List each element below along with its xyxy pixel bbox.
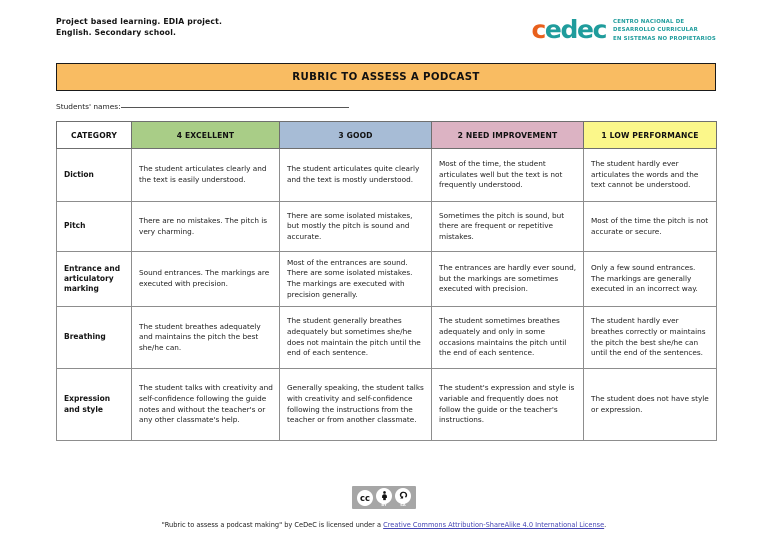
creative-commons-badge[interactable]: cc BY SA bbox=[352, 486, 416, 509]
license-prefix-text: "Rubric to assess a podcast making" by C… bbox=[162, 521, 383, 529]
cell-expression-level3: Generally speaking, the student talks wi… bbox=[280, 369, 432, 441]
cell-expression-level1: The student does not have style or expre… bbox=[584, 369, 717, 441]
page-title: RUBRIC TO ASSESS A PODCAST bbox=[292, 72, 479, 83]
table-header-row: CATEGORY 4 EXCELLENT 3 GOOD 2 NEED IMPRO… bbox=[57, 122, 717, 149]
rubric-table: CATEGORY 4 EXCELLENT 3 GOOD 2 NEED IMPRO… bbox=[56, 121, 717, 441]
column-header-low-performance: 1 LOW PERFORMANCE bbox=[584, 122, 717, 149]
cc-by-label: BY bbox=[381, 504, 386, 508]
subject-line-1: Project based learning. EDIA project. bbox=[56, 16, 222, 27]
column-header-good: 3 GOOD bbox=[280, 122, 432, 149]
criterion-name-pitch: Pitch bbox=[57, 202, 132, 252]
document-page: Project based learning. EDIA project. En… bbox=[0, 0, 768, 543]
cc-sa-item: SA bbox=[395, 488, 411, 508]
cell-expression-level4: The student talks with creativity and se… bbox=[132, 369, 280, 441]
table-row: Entrance and articulatory marking Sound … bbox=[57, 252, 717, 307]
table-row: Expression and style The student talks w… bbox=[57, 369, 717, 441]
cell-diction-level4: The student articulates clearly and the … bbox=[132, 149, 280, 202]
subject-line-2: English. Secondary school. bbox=[56, 27, 222, 38]
cell-pitch-level4: There are no mistakes. The pitch is very… bbox=[132, 202, 280, 252]
cell-breathing-level3: The student generally breathes adequatel… bbox=[280, 307, 432, 369]
column-header-excellent: 4 EXCELLENT bbox=[132, 122, 280, 149]
cc-by-item: BY bbox=[376, 488, 392, 508]
criterion-name-entrance: Entrance and articulatory marking bbox=[57, 252, 132, 307]
cell-diction-level1: The student hardly ever articulates the … bbox=[584, 149, 717, 202]
license-suffix-text: . bbox=[604, 521, 606, 529]
cell-diction-level3: The student articulates quite clearly an… bbox=[280, 149, 432, 202]
cedec-logo: cedec CENTRO NACIONAL DE DESARROLLO CURR… bbox=[531, 14, 716, 43]
logo-letters-edec: edec bbox=[545, 15, 606, 44]
license-statement: "Rubric to assess a podcast making" by C… bbox=[0, 521, 768, 529]
cell-pitch-level1: Most of the time the pitch is not accura… bbox=[584, 202, 717, 252]
logo-letter-c: c bbox=[531, 15, 544, 44]
rubric-title-banner: RUBRIC TO ASSESS A PODCAST bbox=[56, 63, 716, 91]
column-header-need-improvement: 2 NEED IMPROVEMENT bbox=[432, 122, 584, 149]
person-icon bbox=[376, 488, 392, 504]
table-row: Diction The student articulates clearly … bbox=[57, 149, 717, 202]
cell-entrance-level2: The entrances are hardly ever sound, but… bbox=[432, 252, 584, 307]
criterion-name-diction: Diction bbox=[57, 149, 132, 202]
tagline-line-3: EN SISTEMAS NO PROPIETARIOS bbox=[613, 35, 716, 43]
cell-breathing-level4: The student breathes adequately and main… bbox=[132, 307, 280, 369]
column-header-category: CATEGORY bbox=[57, 122, 132, 149]
cedec-wordmark: cedec bbox=[531, 17, 606, 42]
license-link[interactable]: Creative Commons Attribution-ShareAlike … bbox=[383, 521, 604, 529]
students-names-field[interactable]: Students' names: bbox=[56, 102, 716, 111]
cell-pitch-level2: Sometimes the pitch is sound, but there … bbox=[432, 202, 584, 252]
tagline-line-1: CENTRO NACIONAL DE bbox=[613, 18, 716, 26]
cell-entrance-level1: Only a few sound entrances. The markings… bbox=[584, 252, 717, 307]
cell-entrance-level3: Most of the entrances are sound. There a… bbox=[280, 252, 432, 307]
cell-breathing-level1: The student hardly ever breathes correct… bbox=[584, 307, 717, 369]
document-footer: cc BY SA "Rubric to a bbox=[0, 486, 768, 529]
cell-breathing-level2: The student sometimes breathes adequatel… bbox=[432, 307, 584, 369]
cell-entrance-level4: Sound entrances. The markings are execut… bbox=[132, 252, 280, 307]
tagline-line-2: DESARROLLO CURRICULAR bbox=[613, 26, 716, 34]
cell-expression-level2: The student's expression and style is va… bbox=[432, 369, 584, 441]
share-alike-icon bbox=[395, 488, 411, 504]
cc-sa-label: SA bbox=[400, 504, 406, 508]
criterion-name-breathing: Breathing bbox=[57, 307, 132, 369]
document-subject: Project based learning. EDIA project. En… bbox=[56, 14, 222, 38]
students-names-label: Students' names: bbox=[56, 102, 121, 111]
cell-diction-level2: Most of the time, the student articulate… bbox=[432, 149, 584, 202]
cc-logo-icon: cc bbox=[357, 490, 373, 506]
students-names-rule[interactable] bbox=[121, 106, 349, 108]
cedec-tagline: CENTRO NACIONAL DE DESARROLLO CURRICULAR… bbox=[613, 15, 716, 43]
table-row: Pitch There are no mistakes. The pitch i… bbox=[57, 202, 717, 252]
document-header: Project based learning. EDIA project. En… bbox=[56, 14, 716, 56]
table-row: Breathing The student breathes adequatel… bbox=[57, 307, 717, 369]
cell-pitch-level3: There are some isolated mistakes, but mo… bbox=[280, 202, 432, 252]
criterion-name-expression: Expression and style bbox=[57, 369, 132, 441]
